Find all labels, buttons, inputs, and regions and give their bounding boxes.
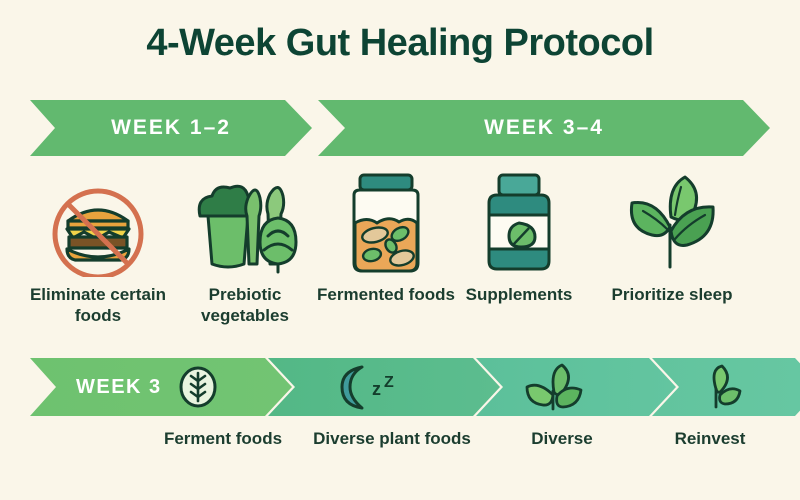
banner-label-week-1-2: WEEK 1–2 (111, 116, 231, 140)
banner-label-week-3-4: WEEK 3–4 (484, 116, 604, 140)
bottom-caption-diverse: Diverse (477, 428, 647, 449)
protocol-caption-prioritize-sleep: Prioritize sleep (592, 284, 752, 305)
svg-text:z: z (372, 379, 381, 399)
bottom-segment-diverse-plant-foods[interactable]: z Z (268, 358, 500, 416)
protocol-item-eliminate-foods[interactable]: Eliminate certain foods (23, 168, 173, 343)
protocol-caption-eliminate-foods: Eliminate certain foods (18, 284, 178, 326)
bottom-caption-row: Ferment foods Diverse plant foods Divers… (0, 428, 800, 490)
bottom-week-banner: WEEK 3 z Z (30, 358, 770, 416)
supplement-bottle-icon (469, 168, 569, 278)
tree-circle-icon (176, 365, 220, 409)
infographic-root: 4-Week Gut Healing Protocol WEEK 1–2 WEE… (0, 0, 800, 500)
sprout-icon (520, 362, 592, 412)
small-leaf-icon (692, 363, 750, 411)
bottom-banner-label-week-3: WEEK 3 (76, 376, 162, 399)
protocol-item-prioritize-sleep[interactable]: Prioritize sleep (597, 168, 747, 343)
bottom-segment-diverse[interactable] (476, 358, 676, 416)
svg-text:Z: Z (384, 374, 394, 391)
banner-segment-week-1-2[interactable]: WEEK 1–2 (30, 100, 312, 156)
bottom-caption-reinvest: Reinvest (625, 428, 795, 449)
moon-sleep-icon: z Z (328, 363, 414, 411)
top-week-banner: WEEK 1–2 WEEK 3–4 (30, 100, 770, 156)
leaf-plant-icon (613, 168, 731, 278)
bottom-caption-diverse-plant-foods: Diverse plant foods (307, 428, 477, 449)
protocol-icon-row: Eliminate certain foods (0, 168, 800, 343)
no-burger-icon (42, 168, 154, 278)
ferment-jar-icon (334, 168, 438, 278)
protocol-caption-supplements: Supplements (439, 284, 599, 305)
vegetables-icon (186, 168, 304, 278)
banner-segment-week-3-4[interactable]: WEEK 3–4 (318, 100, 770, 156)
protocol-item-prebiotic-vegetables[interactable]: Prebiotic vegetables (170, 168, 320, 343)
page-title: 4-Week Gut Healing Protocol (0, 22, 800, 65)
bottom-segment-week-3[interactable]: WEEK 3 (30, 358, 292, 416)
bottom-caption-ferment-foods: Ferment foods (138, 428, 308, 449)
protocol-caption-prebiotic-vegetables: Prebiotic vegetables (165, 284, 325, 326)
protocol-item-supplements[interactable]: Supplements (444, 168, 594, 343)
protocol-item-fermented-foods[interactable]: Fermented foods (311, 168, 461, 343)
